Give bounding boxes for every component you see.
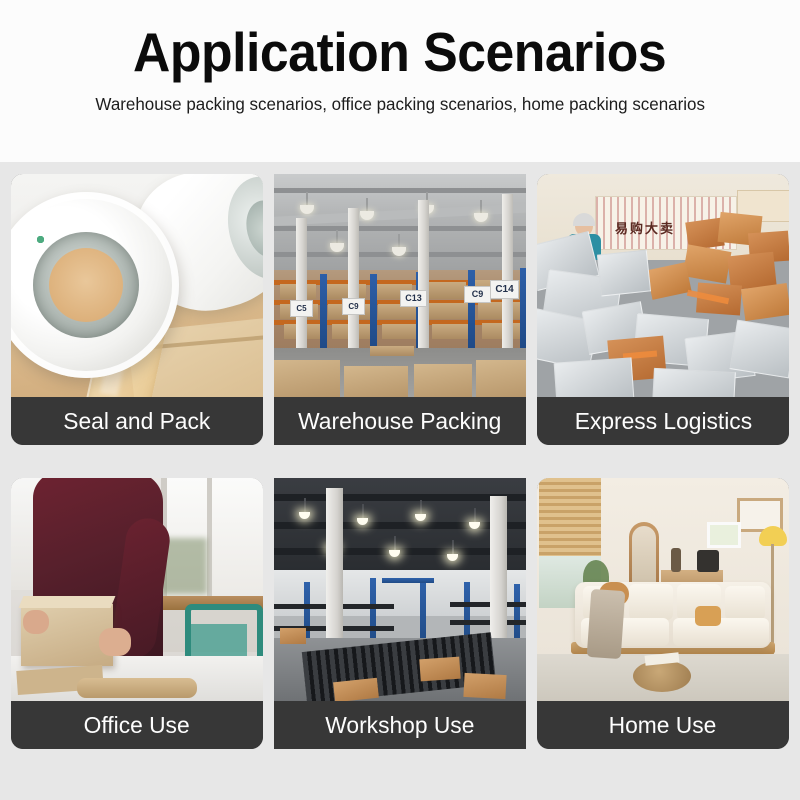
page-subtitle: Warehouse packing scenarios, office pack… [95, 93, 705, 115]
scenario-card-workshop-use[interactable]: Workshop Use [274, 478, 526, 749]
aisle-sign: C14 [490, 280, 519, 299]
seal-and-pack-image [11, 174, 263, 397]
card-label-bar: Workshop Use [274, 701, 526, 749]
card-label-bar: Seal and Pack [11, 397, 263, 445]
card-label: Warehouse Packing [298, 408, 501, 434]
scenario-card-warehouse-packing[interactable]: C5 C9 C13 C9 C14 Warehouse Packing [274, 174, 526, 445]
scenario-card-seal-and-pack[interactable]: Seal and Pack [11, 174, 263, 445]
scenario-card-office-use[interactable]: Office Use [11, 478, 263, 749]
scenario-grid: Seal and Pack [11, 174, 789, 749]
card-label: Office Use [84, 712, 190, 738]
card-label: Seal and Pack [63, 408, 210, 434]
warehouse-packing-image: C5 C9 C13 C9 C14 [274, 174, 526, 397]
page-title: Application Scenarios [133, 20, 666, 84]
card-label-bar: Home Use [537, 701, 789, 749]
card-label-bar: Office Use [11, 701, 263, 749]
office-use-image [11, 478, 263, 701]
card-label: Home Use [609, 712, 717, 738]
card-label: Workshop Use [325, 712, 474, 738]
home-use-image [537, 478, 789, 701]
express-logistics-image: 易购大卖 [537, 174, 789, 397]
banner-text: 易购大卖 [615, 218, 675, 237]
aisle-sign: C9 [342, 298, 365, 315]
page-header: Application Scenarios Warehouse packing … [0, 0, 800, 162]
workshop-use-image [274, 478, 526, 701]
aisle-sign: C9 [464, 286, 491, 303]
application-scenarios-page: Application Scenarios Warehouse packing … [0, 0, 800, 800]
aisle-sign: C5 [290, 300, 313, 317]
aisle-sign: C13 [400, 290, 427, 307]
card-label-bar: Express Logistics [537, 397, 789, 445]
scenario-card-home-use[interactable]: Home Use [537, 478, 789, 749]
card-label-bar: Warehouse Packing [274, 397, 526, 445]
card-label: Express Logistics [574, 408, 751, 434]
scenario-card-express-logistics[interactable]: 易购大卖 [537, 174, 789, 445]
